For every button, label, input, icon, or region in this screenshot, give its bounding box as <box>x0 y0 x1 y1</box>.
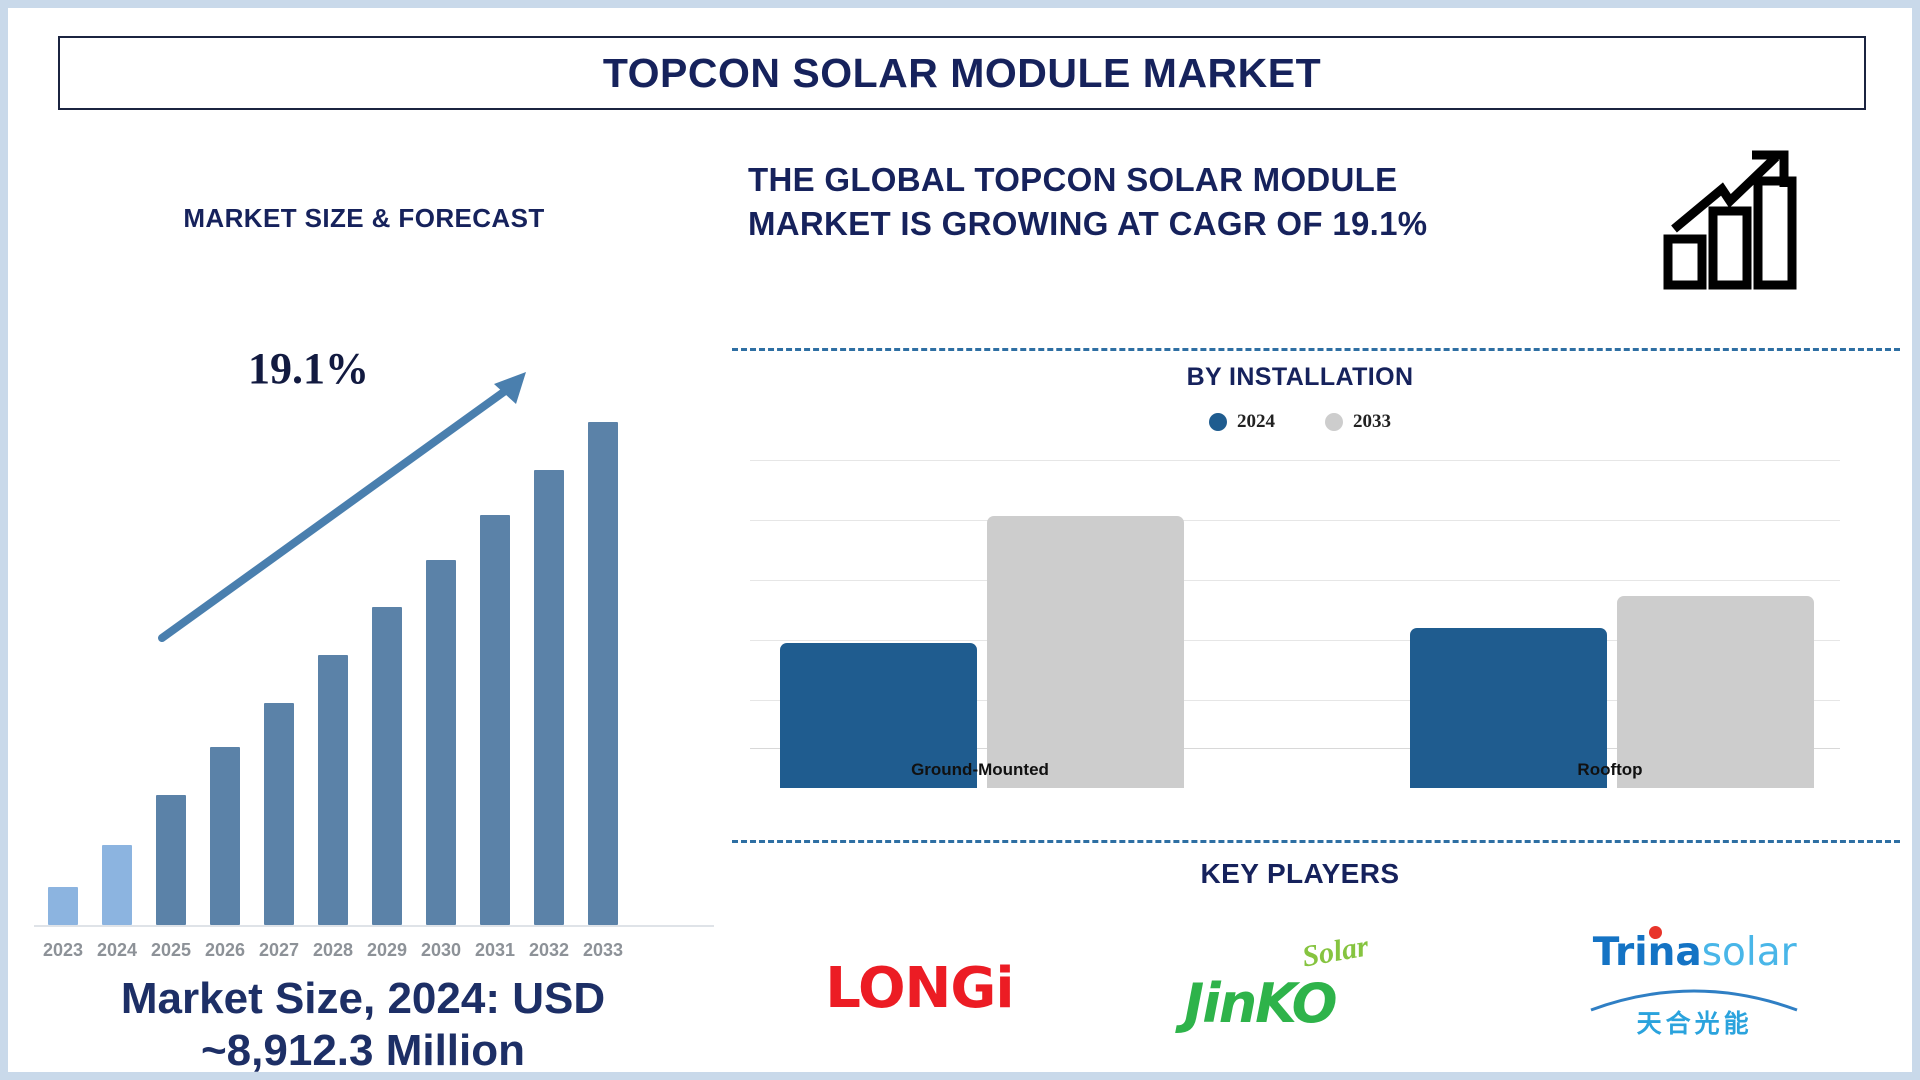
headline-line-1: THE GLOBAL TOPCON SOLAR MODULE <box>748 158 1608 202</box>
bar-2031 <box>480 515 510 925</box>
category-label-rooftop: Rooftop <box>1455 760 1765 780</box>
bar-2023 <box>48 887 78 925</box>
logo-jinko-solar-text: Solar <box>1300 929 1372 974</box>
legend-item-2024: 2024 <box>1209 411 1275 433</box>
bar-2028 <box>318 655 348 925</box>
year-label-2029: 2029 <box>360 940 414 961</box>
year-label-2031: 2031 <box>468 940 522 961</box>
bar-2029 <box>372 607 402 925</box>
chart-baseline <box>34 925 714 927</box>
logo-trina-chinese-text: 天合光能 <box>1585 1004 1805 1040</box>
key-players-title: KEY PLAYERS <box>720 858 1880 890</box>
logo-trina-solar-text: solar <box>1702 930 1797 975</box>
bar-ground-mounted-2033 <box>987 516 1184 788</box>
year-label-2032: 2032 <box>522 940 576 961</box>
bar-group <box>34 365 714 925</box>
bar-2024 <box>102 845 132 925</box>
logo-trina-accent-dot <box>1649 926 1662 939</box>
category-label-ground-mounted: Ground-Mounted <box>825 760 1135 780</box>
logo-jinko: JinKO Solar <box>1184 933 1414 1043</box>
year-axis: 2023 2024 2025 2026 2027 2028 2029 2030 … <box>34 931 714 963</box>
logo-longi-text: LONGi <box>825 956 1013 1021</box>
legend-item-2033: 2033 <box>1325 411 1391 433</box>
year-label-2026: 2026 <box>198 940 252 961</box>
logo-trina-solar: Trinasolar 天合光能 <box>1585 928 1805 1048</box>
year-label-2033: 2033 <box>576 940 630 961</box>
bar-2026 <box>210 747 240 925</box>
market-size-line-1: Market Size, 2024: USD <box>18 973 708 1025</box>
key-players-logos: LONGi JinKO Solar Trinasolar 天合光能 <box>740 913 1890 1063</box>
gridline-1 <box>750 460 1840 461</box>
installation-bar-chart: Ground-Mounted Rooftop <box>750 448 1870 788</box>
year-label-2027: 2027 <box>252 940 306 961</box>
title-box: TOPCON SOLAR MODULE MARKET <box>58 36 1866 110</box>
year-label-2024: 2024 <box>90 940 144 961</box>
installation-legend: 2024 2033 <box>720 411 1880 433</box>
legend-dot-2024 <box>1209 413 1227 431</box>
logo-trina-text: Trina <box>1593 930 1702 975</box>
right-panel: THE GLOBAL TOPCON SOLAR MODULE MARKET IS… <box>720 118 1912 1068</box>
legend-label-2033: 2033 <box>1353 411 1391 433</box>
logo-trina-wordmark: Trinasolar <box>1593 930 1797 975</box>
bar-2030 <box>426 560 456 925</box>
installation-bar-group <box>750 488 1840 788</box>
by-installation-title: BY INSTALLATION <box>720 363 1880 392</box>
year-label-2028: 2028 <box>306 940 360 961</box>
growth-chart-icon <box>1660 143 1810 293</box>
headline-line-2: MARKET IS GROWING AT CAGR OF 19.1% <box>748 202 1608 246</box>
divider-bottom <box>732 840 1900 843</box>
infographic-page: TOPCON SOLAR MODULE MARKET MARKET SIZE &… <box>8 8 1912 1072</box>
year-label-2030: 2030 <box>414 940 468 961</box>
bar-2025 <box>156 795 186 925</box>
market-size-forecast-label: MARKET SIZE & FORECAST <box>8 203 720 234</box>
legend-label-2024: 2024 <box>1237 411 1275 433</box>
legend-dot-2033 <box>1325 413 1343 431</box>
bar-2033 <box>588 422 618 925</box>
page-title: TOPCON SOLAR MODULE MARKET <box>603 50 1321 97</box>
forecast-bar-chart: 2023 2024 2025 2026 2027 2028 2029 2030 … <box>34 348 714 963</box>
bar-2027 <box>264 703 294 925</box>
headline: THE GLOBAL TOPCON SOLAR MODULE MARKET IS… <box>748 158 1608 245</box>
year-label-2023: 2023 <box>36 940 90 961</box>
market-size-value: Market Size, 2024: USD ~8,912.3 Million <box>18 973 708 1072</box>
year-label-2025: 2025 <box>144 940 198 961</box>
bar-2032 <box>534 470 564 925</box>
logo-jinko-text: JinKO <box>1184 972 1335 1035</box>
market-size-line-2: ~8,912.3 Million <box>18 1025 708 1072</box>
divider-top <box>732 348 1900 351</box>
logo-longi: LONGi <box>825 956 1013 1021</box>
market-size-forecast-panel: MARKET SIZE & FORECAST 19.1% <box>8 118 720 1068</box>
